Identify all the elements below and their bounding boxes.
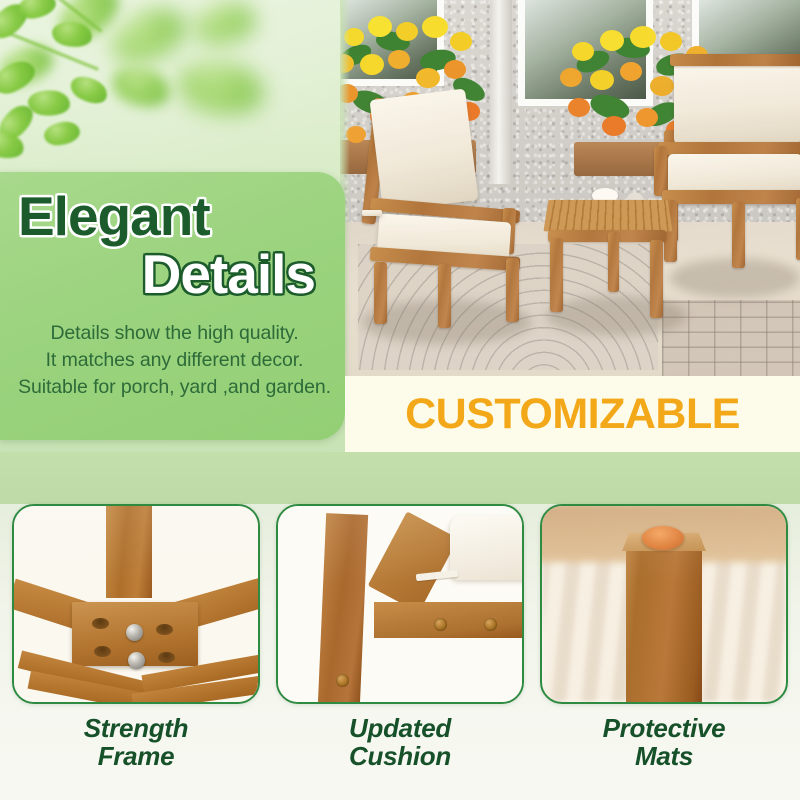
leaf-icon: [67, 70, 112, 110]
customizable-label: CUSTOMIZABLE: [405, 390, 740, 439]
table-slatted-top: [543, 200, 672, 232]
begonia-blossom: [572, 42, 594, 61]
begonia-blossom: [422, 16, 448, 38]
callout-body-line-3: Suitable for porch, yard ,and garden.: [18, 374, 331, 401]
brass-screw: [484, 618, 497, 631]
panel-label-strength-frame: Strength Frame: [12, 714, 260, 770]
begonia-blossom: [368, 16, 392, 37]
leaf-icon: [192, 1, 258, 47]
elegant-details-callout: Elegant Details Details show the high qu…: [0, 172, 345, 440]
leaf-decoration-cluster: [0, 0, 322, 186]
begonia-blossom: [602, 116, 626, 136]
begonia-blossom: [444, 60, 466, 79]
begonia-blossom: [660, 32, 682, 51]
chair-seat-cushion: [668, 154, 800, 194]
table-leg: [608, 232, 619, 292]
table-leg: [550, 238, 563, 312]
begonia-blossom: [360, 54, 384, 75]
metal-bolt: [128, 652, 145, 669]
begonia-blossom: [388, 50, 410, 69]
seat-cushion-detail: [450, 516, 524, 580]
panel-image-frame: [540, 504, 788, 704]
chair-back-cushion: [370, 89, 479, 212]
panel-label-line2: Cushion: [276, 742, 524, 770]
chair-back-cushion: [674, 62, 800, 144]
callout-body-line-2: It matches any different decor.: [18, 347, 331, 374]
mid-green-divider-band: [0, 452, 800, 504]
seat-rail-detail: [374, 602, 524, 638]
panel-label-protective-mats: Protective Mats: [540, 714, 788, 770]
panel-label-line2: Frame: [12, 742, 260, 770]
begonia-blossom: [450, 32, 472, 51]
begonia-blossom: [396, 22, 418, 41]
panel-label-line1: Protective: [540, 714, 788, 742]
feature-panel-protective-mats[interactable]: Protective Mats: [540, 504, 788, 800]
begonia-blossom: [416, 68, 440, 88]
hero-product-photo: [340, 0, 800, 376]
panel-image-frame: [276, 504, 524, 704]
panel-label-line1: Strength: [12, 714, 260, 742]
panel-label-line2: Mats: [540, 742, 788, 770]
feature-panel-row: Strength Frame: [0, 504, 800, 800]
cushion-tie-strap: [362, 210, 382, 216]
wood-joint-icon: [106, 504, 152, 598]
leaf-icon: [107, 58, 175, 116]
chair-leg: [732, 202, 745, 268]
callout-heading-line1: Elegant: [18, 190, 331, 244]
chair-leg: [506, 258, 519, 322]
product-feature-poster: Elegant Details Details show the high qu…: [0, 0, 800, 800]
chair-leg: [796, 198, 800, 260]
table-leg: [650, 240, 663, 318]
panel-image-frame: [12, 504, 260, 704]
chair-back-top-rail: [670, 54, 800, 66]
patio-chair-right: [654, 50, 800, 290]
callout-body-text: Details show the high quality. It matche…: [18, 320, 331, 401]
begonia-blossom: [590, 70, 614, 90]
table-apron: [548, 230, 666, 242]
brass-screw: [336, 674, 349, 687]
feature-panel-updated-cushion[interactable]: Updated Cushion: [276, 504, 524, 800]
bolt-hole: [158, 652, 175, 663]
leaf-icon: [104, 1, 193, 71]
begonia-blossom: [620, 62, 642, 81]
leaf-icon: [43, 121, 81, 146]
callout-body-line-1: Details show the high quality.: [18, 320, 331, 347]
patio-side-table: [546, 198, 670, 322]
brass-screw: [434, 618, 447, 631]
patio-chair-left: [350, 92, 560, 322]
metal-bolt: [126, 624, 143, 641]
begonia-blossom: [630, 26, 656, 48]
customizable-banner: CUSTOMIZABLE: [345, 376, 800, 452]
begonia-blossom: [600, 30, 624, 51]
panel-label-line1: Updated: [276, 714, 524, 742]
begonia-blossom: [560, 68, 582, 87]
chair-seat-rail: [662, 190, 800, 204]
bolt-hole: [156, 624, 173, 635]
chair-leg: [438, 264, 451, 328]
panel-label-updated-cushion: Updated Cushion: [276, 714, 524, 770]
bolt-hole: [94, 646, 111, 657]
bolt-hole: [92, 618, 109, 629]
callout-heading-line2: Details: [18, 248, 331, 302]
feature-panel-strength-frame[interactable]: Strength Frame: [12, 504, 260, 800]
leg-pad-icon: [626, 540, 702, 704]
chair-leg: [374, 262, 387, 324]
protective-pad: [642, 526, 684, 550]
begonia-blossom: [568, 98, 590, 117]
feature-panels-zone: Strength Frame: [0, 504, 800, 800]
leaf-icon: [172, 51, 269, 125]
